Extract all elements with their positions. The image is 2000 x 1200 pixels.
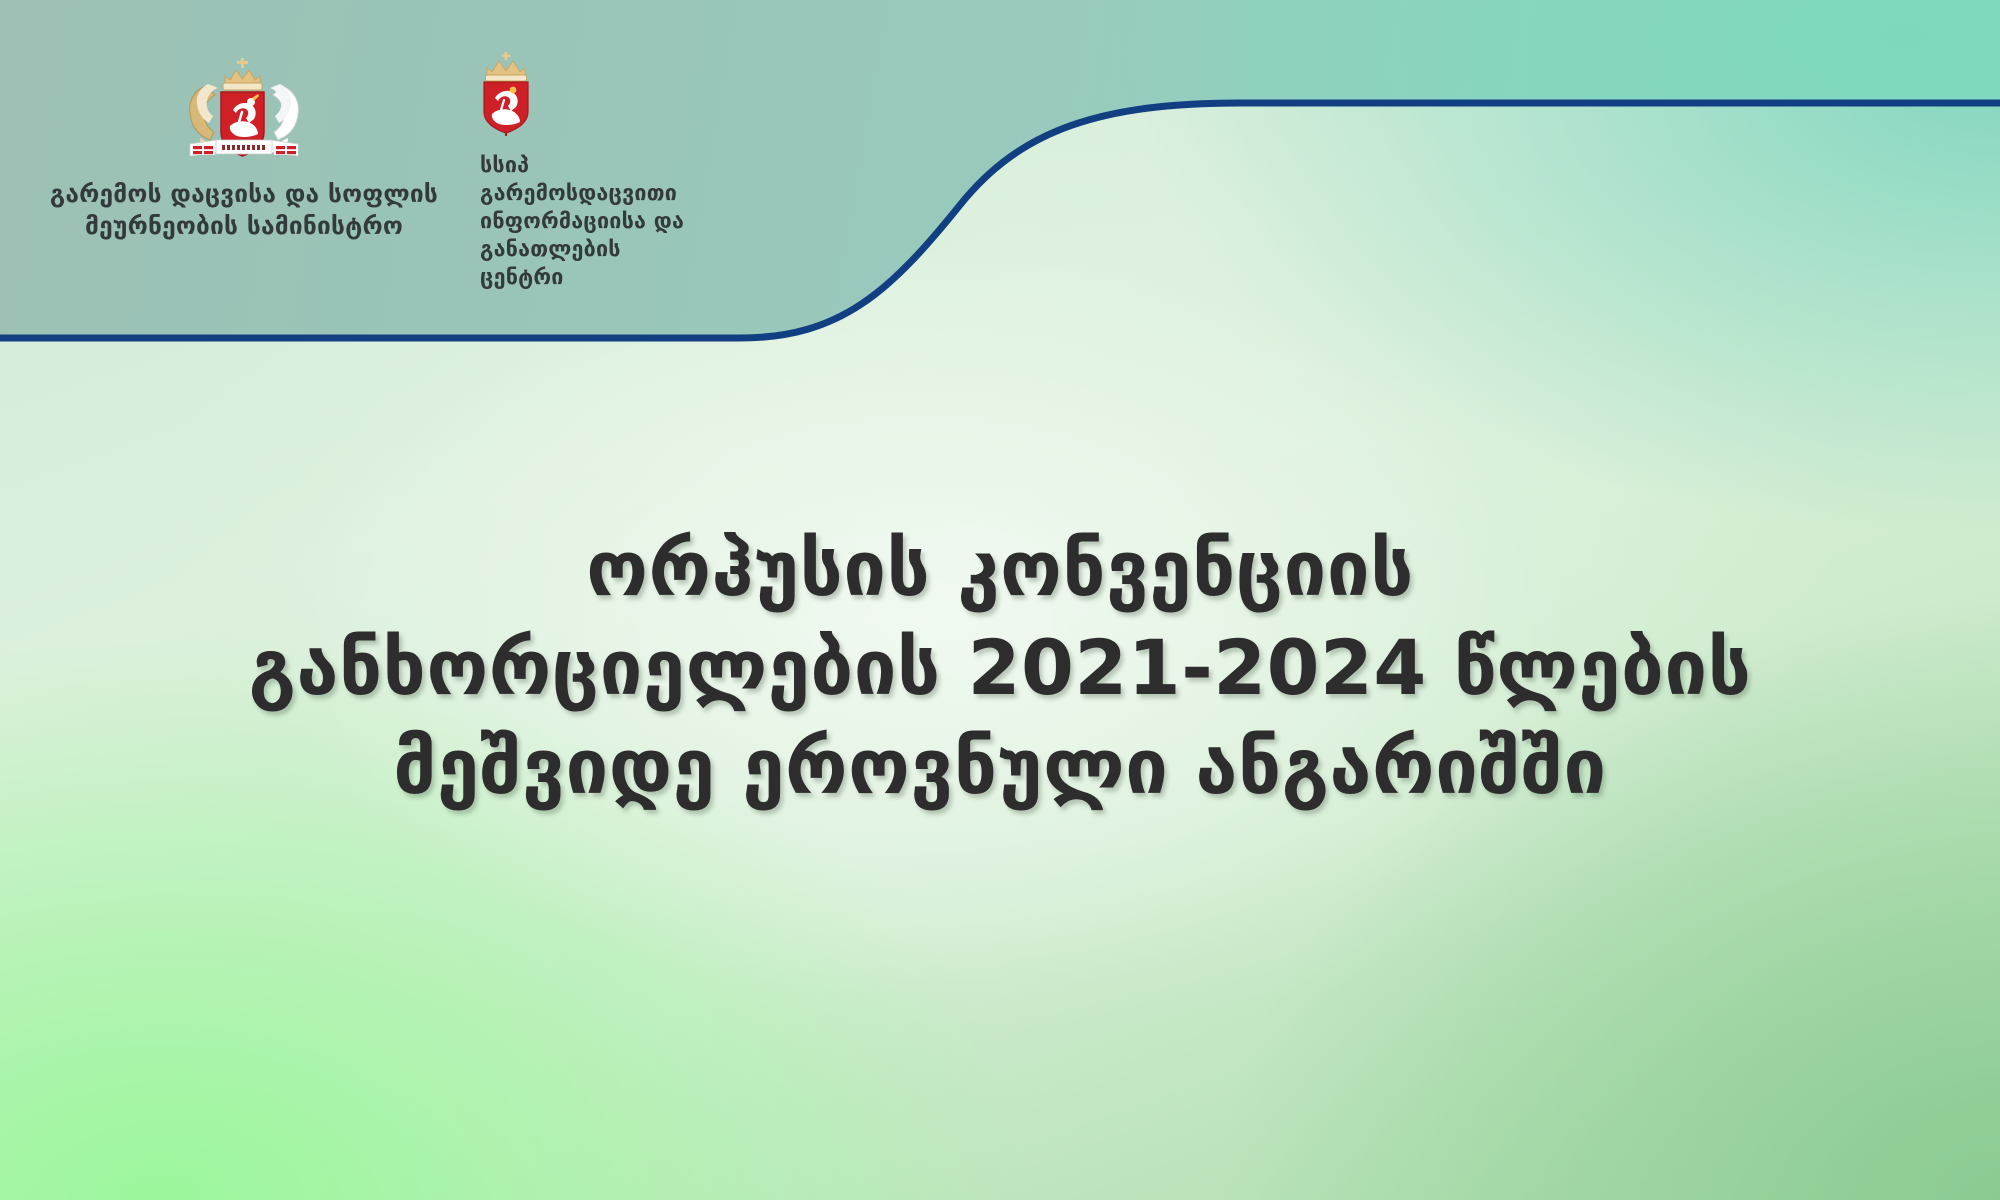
page-title: ორჰუსის კონვენციის განხორციელების 2021-2… [0,520,2000,816]
ministry-logo-block: გარემოს დაცვისა და სოფლის მეურნეობის სამ… [44,52,444,242]
eiec-logo-block: სსიპ გარემოსდაცვითი ინფორმაციისა და განა… [480,50,710,292]
title-slide: გარემოს დაცვისა და სოფლის მეურნეობის სამ… [0,0,2000,1200]
georgia-national-coat-of-arms-icon [178,52,310,164]
georgia-small-coat-of-arms-icon [474,50,538,136]
ministry-logo-label: გარემოს დაცვისა და სოფლის მეურნეობის სამ… [44,178,444,242]
eiec-logo-label: სსიპ გარემოსდაცვითი ინფორმაციისა და განა… [480,152,710,292]
